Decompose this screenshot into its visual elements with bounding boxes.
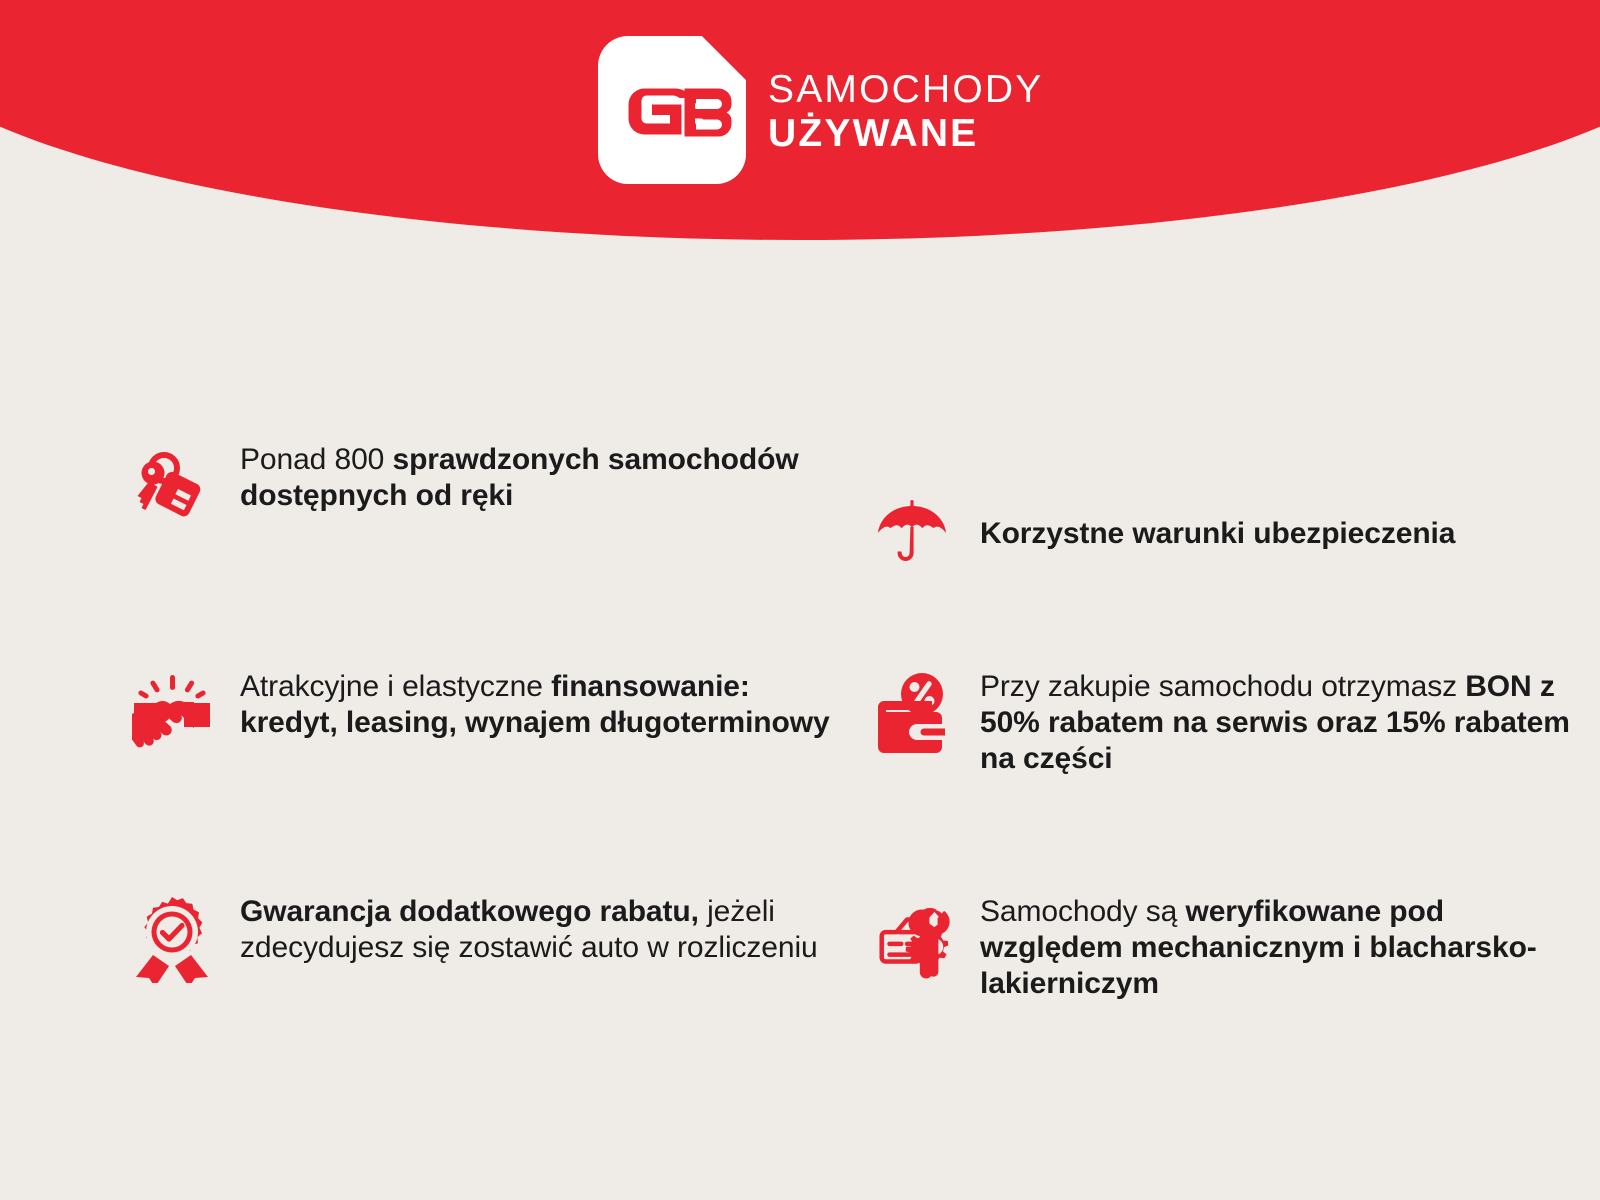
feature-bold-text: Gwarancja dodatkowego rabatu, xyxy=(240,895,699,928)
feature-bold-text: Korzystne warunki ubezpieczenia xyxy=(980,517,1455,550)
feature-item-cars-available: Ponad 800 sprawdzonych samochodów dostęp… xyxy=(130,440,850,625)
gb-logo-mark-icon xyxy=(598,36,746,184)
brand-wordmark: SAMOCHODY UŻYWANE xyxy=(768,64,1044,156)
feature-lead-text: Samochody są xyxy=(980,895,1185,928)
features-grid: Ponad 800 sprawdzonych samochodów dostęp… xyxy=(0,440,1600,1077)
feature-text-voucher: Przy zakupie samochodu otrzymasz BON z 5… xyxy=(980,667,1580,777)
key-tag-icon xyxy=(130,440,214,532)
feature-text-cars-available: Ponad 800 sprawdzonych samochodów dostęp… xyxy=(240,440,840,514)
feature-lead-text: Atrakcyjne i elastyczne xyxy=(240,670,551,703)
brand-line-2: UŻYWANE xyxy=(768,112,1044,156)
brand-line-1: SAMOCHODY xyxy=(768,68,1044,112)
umbrella-icon xyxy=(870,487,954,579)
wallet-percent-icon xyxy=(870,667,954,759)
award-badge-icon xyxy=(130,892,214,984)
feature-lead-text: Przy zakupie samochodu otrzymasz xyxy=(980,670,1465,703)
feature-item-verification: Samochody są weryfikowane pod względem m… xyxy=(870,892,1590,1077)
feature-item-insurance: Korzystne warunki ubezpieczenia xyxy=(870,440,1590,625)
feature-text-insurance: Korzystne warunki ubezpieczenia xyxy=(980,514,1455,552)
car-wrench-gear-icon xyxy=(870,892,954,984)
feature-item-trade-in-discount: Gwarancja dodatkowego rabatu, jeżeli zde… xyxy=(130,892,850,1077)
feature-item-financing: Atrakcyjne i elastyczne finansowanie: kr… xyxy=(130,667,850,852)
handshake-icon xyxy=(130,667,214,759)
feature-text-verification: Samochody są weryfikowane pod względem m… xyxy=(980,892,1580,1002)
feature-text-trade-in-discount: Gwarancja dodatkowego rabatu, jeżeli zde… xyxy=(240,892,840,966)
brand-logo-lockup[interactable]: SAMOCHODY UŻYWANE xyxy=(598,36,1044,184)
feature-lead-text: Ponad 800 xyxy=(240,443,392,476)
feature-text-financing: Atrakcyjne i elastyczne finansowanie: kr… xyxy=(240,667,840,741)
feature-item-voucher: Przy zakupie samochodu otrzymasz BON z 5… xyxy=(870,667,1590,852)
